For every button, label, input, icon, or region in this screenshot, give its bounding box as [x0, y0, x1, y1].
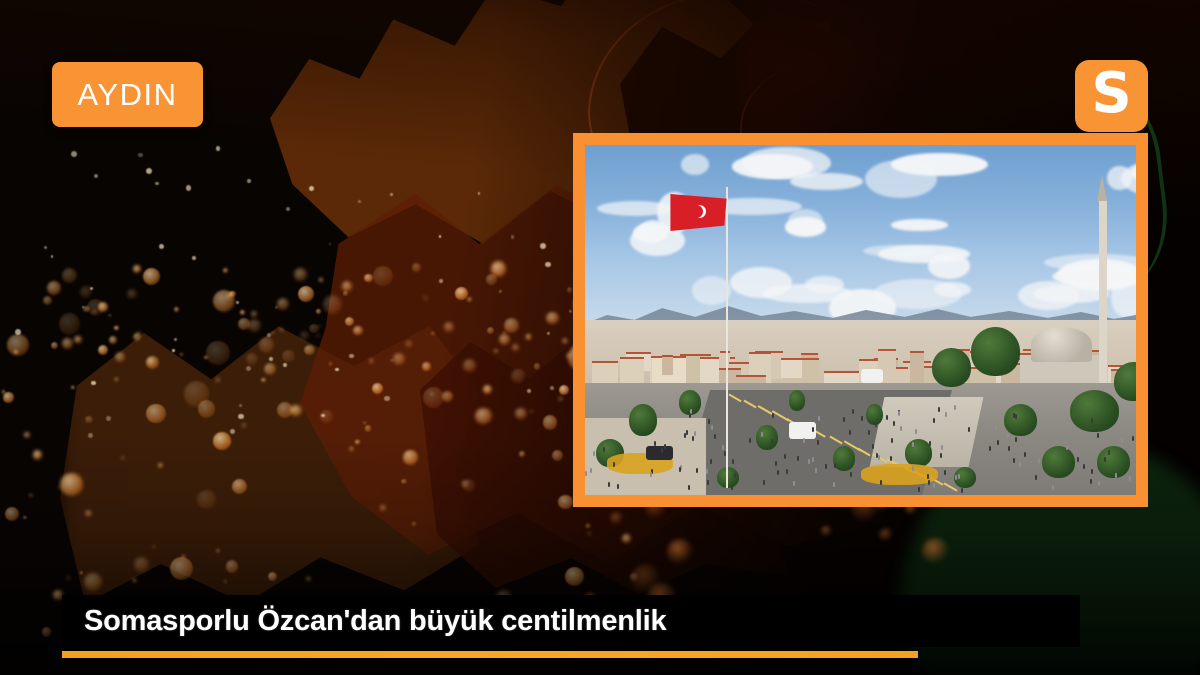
headline-title: Somasporlu Özcan'dan büyük centilmenlik [62, 605, 666, 638]
photo-image [585, 145, 1136, 495]
brand-logo-letter: S [1091, 66, 1131, 122]
photo-minaret [1099, 201, 1107, 383]
photo-car [646, 446, 674, 460]
photo-flower-bed [861, 464, 938, 485]
photo-frame[interactable] [573, 133, 1148, 507]
photo-flag-crescent [690, 205, 703, 218]
news-card: AYDIN S [0, 0, 1200, 675]
region-badge[interactable]: AYDIN [52, 62, 203, 127]
headline-underline [62, 651, 918, 658]
headline-band: Somasporlu Özcan'dan büyük centilmenlik [62, 595, 1080, 647]
photo-minaret-spire [1097, 175, 1107, 201]
photo-flag-pole [726, 187, 728, 488]
region-badge-label: AYDIN [78, 79, 178, 110]
photo-car [861, 369, 883, 383]
brand-s-logo[interactable]: S [1075, 60, 1148, 132]
photo-mosque-dome [1031, 327, 1092, 362]
